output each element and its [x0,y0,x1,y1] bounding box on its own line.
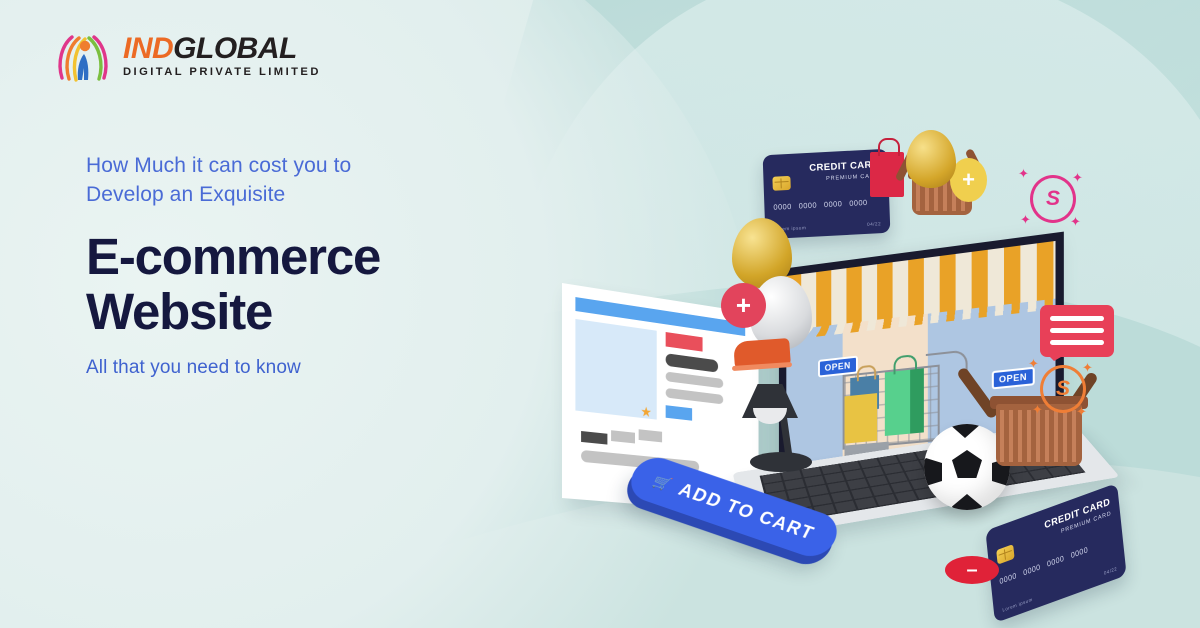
mockup-text-line-dark [666,353,718,372]
mockup-red-banner [666,332,703,352]
mockup-text-line-1 [666,371,724,388]
star-icon: ★ [640,403,651,421]
minus-badge-icon: – [945,556,999,584]
message-bubble-icon [1040,305,1114,357]
brand-logo[interactable]: INDGLOBAL DIGITAL PRIVATE LIMITED [55,30,321,82]
sub-headline: All that you need to know [86,357,516,379]
card-number-group-2: 0000 [1023,562,1041,577]
shopping-cart-icon: 🛒 [651,472,677,493]
headline-block: How Much it can cost you to Develop an E… [86,152,516,379]
credit-card-title: CREDIT CARD [809,159,879,174]
brand-name-part2: GLOBAL [173,32,297,65]
mockup-text-line-2 [666,388,724,405]
card-number-group-1: 0000 [773,202,792,212]
card-number-group-3: 0000 [824,199,843,209]
sparkle-icon: ✦ [1082,360,1093,376]
sparkle-icon: ✦ [1076,404,1087,420]
sparkle-icon: ✦ [1020,212,1031,228]
mockup-card-2 [611,430,635,443]
card-number-group-4: 0000 [849,198,868,208]
balloon-gold-small [906,130,956,188]
kicker-line-1: How Much it can cost you to [86,152,516,181]
poster-canvas: INDGLOBAL DIGITAL PRIVATE LIMITED How Mu… [0,0,1200,628]
sparkle-icon: ✦ [1032,402,1043,418]
credit-card-bottom: CREDIT CARD PREMIUM CARD 0000 0000 0000 … [985,483,1126,623]
desk-lamp-base [750,452,812,472]
sparkle-icon: ✦ [1028,356,1039,372]
shopping-bag-yellow [845,393,878,444]
title-line-1: E-commerce [86,230,516,285]
mockup-card-3 [639,429,662,442]
ecommerce-illustration: ★ OPEN OPEN [520,0,1200,628]
kicker-line-2: Develop an Exquisite [86,181,516,210]
shopping-bag-green-dark [910,368,924,433]
rainbow-arc-person-logo-icon [55,30,113,82]
chip-icon [996,544,1014,565]
sparkle-icon: ✦ [1018,166,1029,182]
credit-card-expiry: 04/22 [867,221,881,227]
sparkle-icon: ✦ [1072,170,1083,186]
card-number-group-3: 0000 [1047,553,1065,568]
sparkle-icon: ✦ [1070,214,1081,230]
chip-icon [772,176,790,191]
credit-card-expiry: 04/22 [1104,566,1118,576]
card-number-group-4: 0000 [1070,545,1088,560]
mockup-cta-button [666,405,692,421]
card-number-group-1: 0000 [999,571,1017,586]
brand-name-part1: IND [123,32,173,65]
title-line-2: Website [86,285,516,340]
card-number-group-2: 0000 [799,201,818,211]
credit-card-holder: Lorem ipsum [1002,597,1033,613]
plus-badge-red-icon: + [721,283,766,328]
credit-card-number: 0000 0000 0000 0000 [773,198,867,212]
brand-tagline: DIGITAL PRIVATE LIMITED [123,67,321,78]
brand-wordmark: INDGLOBAL DIGITAL PRIVATE LIMITED [123,34,321,78]
mockup-card-1 [581,431,607,445]
